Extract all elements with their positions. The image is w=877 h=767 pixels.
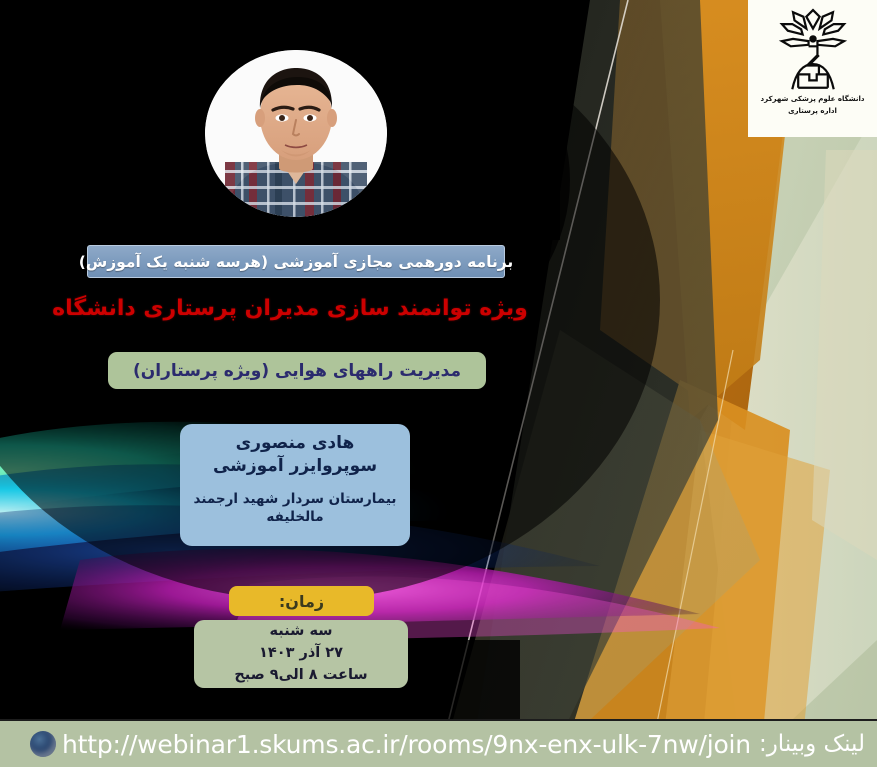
logo-department-name: اداره پرستاری bbox=[788, 107, 837, 115]
bullet-icon bbox=[30, 731, 56, 757]
webinar-link-url[interactable]: http://webinar1.skums.ac.ir/rooms/9nx-en… bbox=[62, 730, 751, 759]
speaker-name: هادی منصوری bbox=[190, 432, 400, 455]
speaker-organization-line1: بیمارستان سردار شهید ارجمند bbox=[190, 490, 400, 508]
time-date: ۲۷ آذر ۱۴۰۳ bbox=[259, 643, 343, 665]
program-banner: برنامه دورهمی مجازی آموزشی (هرسه شنبه یک… bbox=[87, 245, 505, 278]
time-details-box: سه شنبه ۲۷ آذر ۱۴۰۳ ساعت ۸ الی۹ صبح bbox=[194, 620, 408, 688]
speaker-role: سوپروایزر آموزشی bbox=[190, 455, 400, 478]
university-logo-icon bbox=[776, 6, 850, 94]
webinar-link-label: لینک وبینار: bbox=[759, 731, 865, 757]
speaker-portrait bbox=[205, 50, 387, 217]
university-logo-card: دانشگاه علوم پزشکی شهرکرد اداره پرستاری bbox=[748, 0, 877, 137]
portrait-photo bbox=[205, 50, 387, 217]
page-title: ویژه توانمند سازی مدیران پرستاری دانشگاه bbox=[0, 296, 580, 321]
speaker-info-box: هادی منصوری سوپروایزر آموزشی بیمارستان س… bbox=[180, 424, 410, 546]
time-hours: ساعت ۸ الی۹ صبح bbox=[234, 665, 367, 687]
webinar-link-bar: لینک وبینار: http://webinar1.skums.ac.ir… bbox=[0, 719, 877, 767]
logo-university-name: دانشگاه علوم پزشکی شهرکرد bbox=[761, 95, 865, 103]
topic-banner: مدیریت راههای هوایی (ویژه پرستاران) bbox=[108, 352, 486, 389]
time-header: زمان: bbox=[229, 586, 374, 616]
webinar-poster: برنامه دورهمی مجازی آموزشی (هرسه شنبه یک… bbox=[0, 0, 877, 767]
speaker-organization-line2: مالخلیفه bbox=[190, 508, 400, 526]
time-day: سه شنبه bbox=[270, 621, 333, 643]
